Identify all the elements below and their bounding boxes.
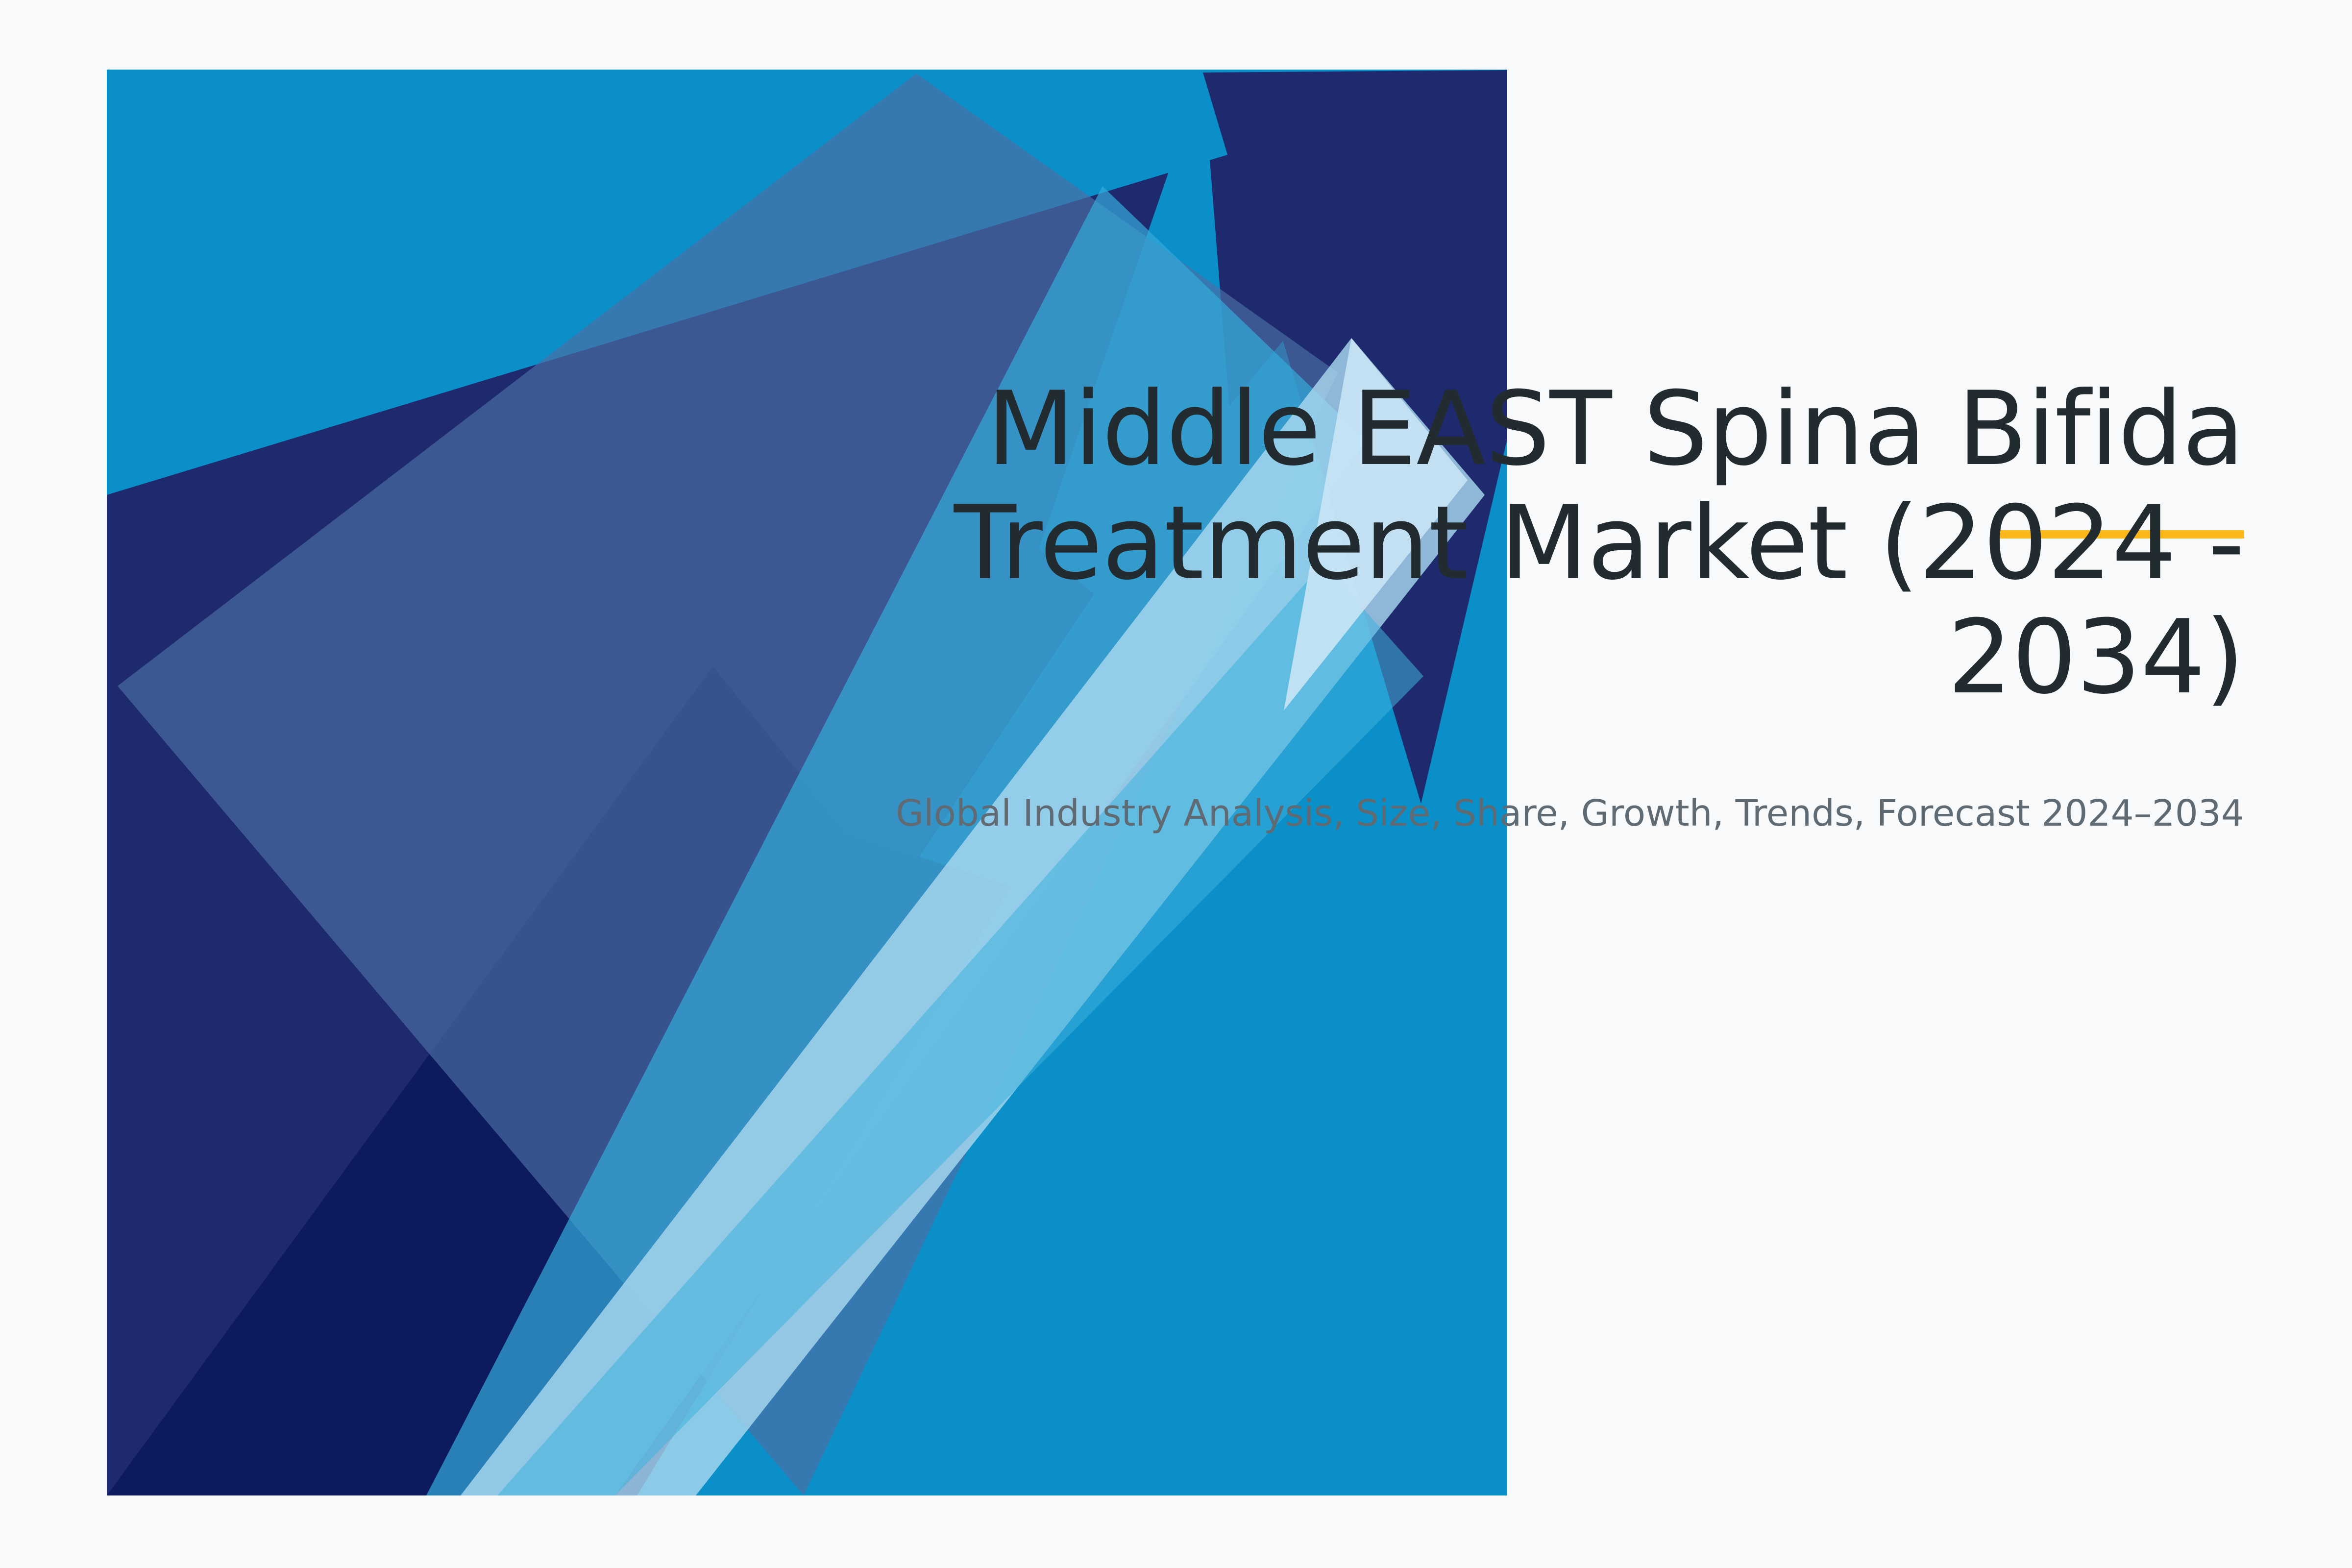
report-cover-page: Middle EAST Spina Bifida Treatment Marke… [0,0,2352,1568]
page-title: Middle EAST Spina Bifida Treatment Marke… [833,372,2244,715]
title-wrapper: Middle EAST Spina Bifida Treatment Marke… [833,372,2244,715]
cover-text-block: Middle EAST Spina Bifida Treatment Marke… [833,372,2244,837]
page-subtitle: Global Industry Analysis, Size, Share, G… [833,715,2244,837]
